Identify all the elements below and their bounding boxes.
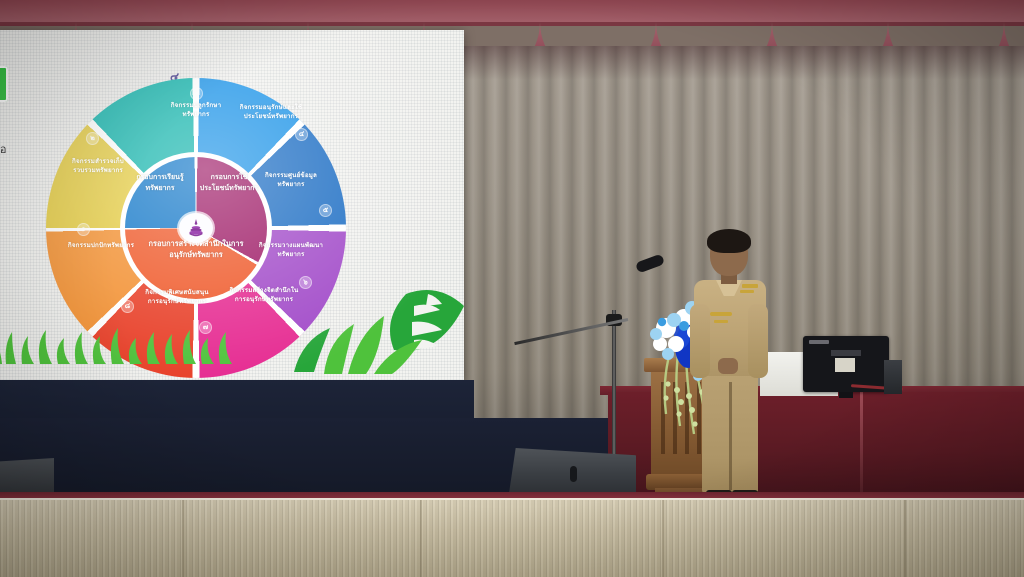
outer-segment-5-label: กิจกรรมศูนย์ข้อมูลทรัพยากร [254, 172, 328, 190]
outer-segment-4-number: ๔ [295, 128, 308, 141]
computer-monitor [803, 336, 889, 392]
outer-segment-1-label: กิจกรรมปกปักทรัพยากร [64, 242, 138, 251]
outer-segment-3-label: กิจกรรมปลูกรักษาทรัพยากร [159, 102, 233, 120]
outer-segment-2-number: ๒ [86, 132, 99, 145]
speaker-hand [718, 358, 738, 374]
small-speaker-box [884, 360, 902, 394]
chest-embroidery-2-icon [714, 320, 728, 323]
tropical-leaf-decoration-icon [288, 254, 464, 374]
slide-green-tag [0, 66, 8, 102]
auditorium-photo: น คือ ๔ ๖ [0, 0, 1024, 577]
outer-segment-3-number: ๓ [190, 87, 203, 100]
royal-project-emblem-icon [179, 213, 213, 243]
outer-segment-1-number: ๑ [77, 223, 90, 236]
inner-segment-learning-label: กรอบการเรียนรู้ทรัพยากร [129, 172, 191, 193]
speaker-hair [707, 229, 751, 253]
stage-front-panel [0, 498, 1024, 577]
chest-embroidery-icon [710, 312, 732, 316]
outer-segment-2-label: กิจกรรมสำรวจเก็บรวบรวมทรัพยากร [61, 158, 135, 176]
outer-segment-8-label: กิจกรรมพิเศษสนับสนุนการอนุรักษ์ทรัพยากร [140, 289, 214, 307]
projection-screen: น คือ ๔ ๖ [0, 30, 464, 380]
outer-segment-8-number: ๘ [121, 300, 134, 313]
outer-segment-4-label: กิจกรรมอนุรักษ์และใช้ประโยชน์ทรัพยากร [234, 104, 308, 122]
inner-segment-utilisation-label: กรอบการใช้ประโยชน์ทรัพยากร [198, 172, 260, 193]
shoulder-insignia-2-icon [740, 290, 754, 293]
shoulder-insignia-icon [742, 284, 758, 288]
grass-decoration-icon [0, 324, 294, 364]
speaker-person [690, 232, 770, 500]
outer-segment-5-number: ๕ [319, 204, 332, 217]
slide-left-partial-text: น คือ [0, 140, 50, 158]
